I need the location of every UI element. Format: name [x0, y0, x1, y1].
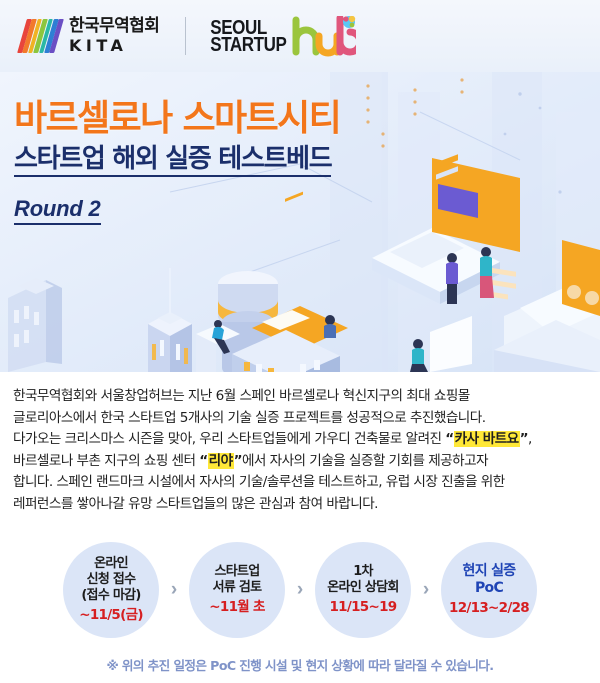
schedule-timeline: 온라인 신청 접수 (접수 마감) ~11/5(금) › 스타트업 서류 검토 … [0, 534, 600, 646]
step1-line3: (접수 마감) [81, 588, 140, 604]
logo-bar: 한국무역협회 KITA SEOUL STARTUP [0, 0, 600, 72]
logo-divider [185, 17, 186, 55]
step3-date: 11/15~19 [329, 599, 396, 615]
description-line-6: 레퍼런스를 쌓아나갈 유망 스타트업들의 많은 관심과 참여 바랍니다. [13, 494, 591, 516]
step2-line1: 스타트업 [214, 564, 259, 580]
line4-post: 에서 자사의 기술을 실증할 기회를 제공하고자 [242, 453, 488, 469]
page-subtitle: 스타트업 해외 실증 테스트베드 [14, 145, 331, 178]
ssh-line-startup: STARTUP [210, 34, 286, 54]
step3-line2: 온라인 상담회 [327, 580, 398, 596]
kita-logo-text: 한국무역협회 KITA [69, 18, 159, 54]
chevron-right-icon-3: › [411, 579, 441, 601]
step2-line2: 서류 검토 [213, 580, 262, 596]
step1-line2: 신청 접수 [87, 572, 136, 588]
line4-quote-close: ” [234, 453, 242, 469]
highlight-liya: 리야 [208, 453, 234, 469]
step1-date: ~11/5(금) [79, 607, 143, 623]
step1-line1: 온라인 [94, 556, 128, 572]
chevron-right-icon-1: › [159, 579, 189, 601]
kita-english-name: KITA [69, 38, 159, 54]
line4-pre: 바르셀로나 부촌 지구의 쇼핑 센터 [13, 453, 199, 469]
description-line-5: 합니다. 스페인 랜드마크 시설에서 자사의 기술/솔루션을 테스트하고, 유럽… [13, 472, 591, 494]
seoul-startup-hub-logo: SEOUL STARTUP [210, 16, 356, 56]
line3-quote-open: “ [445, 431, 453, 447]
timeline-step-online-consultation[interactable]: 1차 온라인 상담회 11/15~19 [315, 542, 411, 638]
step3-line1: 1차 [353, 564, 373, 580]
description-line-3: 다가오는 크리스마스 시즌을 맞아, 우리 스타트업들에게 가우디 건축물로 알… [13, 429, 591, 451]
schedule-footnote: ※ 위의 추진 일정은 PoC 진행 시설 및 현지 상황에 따라 달라질 수 … [0, 655, 600, 674]
step2-date: ~11월 초 [209, 599, 264, 615]
rainbow-stripes-icon [17, 19, 65, 53]
line3-quote-close: ” [520, 431, 528, 447]
description-line-2: 글로리아스에서 한국 스타트업 5개사의 기술 실증 프로젝트를 성공적으로 추… [13, 408, 591, 430]
ssh-wordmark-text: SEOUL STARTUP [210, 19, 286, 54]
description-line-4: 바르셀로나 부촌 지구의 쇼핑 센터 “리야”에서 자사의 기술을 실증할 기회… [13, 451, 591, 473]
highlight-casa-batllo: 카사 바트요 [454, 431, 520, 447]
timeline-step-onsite-poc[interactable]: 현지 실증 PoC 12/13~2/28 [441, 542, 537, 638]
poster-page: 한국무역협회 KITA SEOUL STARTUP [0, 0, 600, 683]
timeline-step-online-application[interactable]: 온라인 신청 접수 (접수 마감) ~11/5(금) [63, 542, 159, 638]
hub-logomark-icon [292, 16, 356, 56]
kita-korean-name: 한국무역협회 [69, 18, 159, 35]
hero-text-block: 바르셀로나 스마트시티 스타트업 해외 실증 테스트베드 Round 2 [14, 100, 340, 225]
page-title: 바르셀로나 스마트시티 [14, 100, 340, 138]
description-paragraph: 한국무역협회와 서울창업허브는 지난 6월 스페인 바르셀로나 혁신지구의 최대… [13, 386, 591, 515]
chevron-right-icon-2: › [285, 579, 315, 601]
line4-quote-open: “ [199, 453, 207, 469]
kita-logo: 한국무역협회 KITA [22, 18, 159, 54]
line3-post: , [528, 431, 532, 447]
timeline-step-document-review[interactable]: 스타트업 서류 검토 ~11월 초 [189, 542, 285, 638]
step4-line1: 현지 실증 [463, 563, 516, 580]
round-label: Round 2 [14, 196, 101, 225]
line3-pre: 다가오는 크리스마스 시즌을 맞아, 우리 스타트업들에게 가우디 건축물로 알… [13, 431, 445, 447]
description-line-1: 한국무역협회와 서울창업허브는 지난 6월 스페인 바르셀로나 혁신지구의 최대… [13, 386, 591, 408]
hero-banner: 바르셀로나 스마트시티 스타트업 해외 실증 테스트베드 Round 2 [0, 72, 600, 372]
step4-date: 12/13~2/28 [449, 600, 529, 616]
step4-line2: PoC [475, 580, 503, 597]
